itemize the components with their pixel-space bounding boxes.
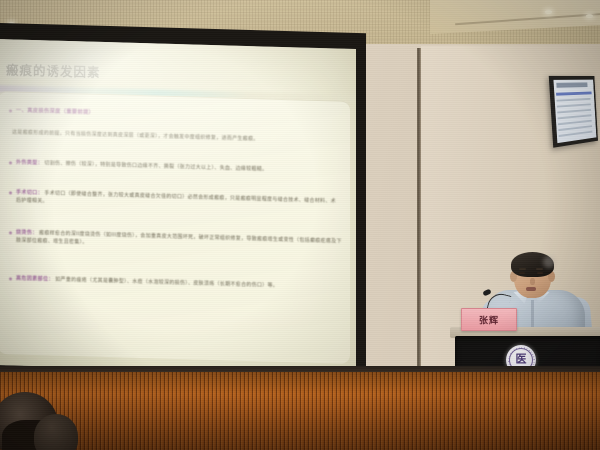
bullet-dot-icon bbox=[9, 277, 12, 280]
slide-bullet: 手术切口： 手术切口（即使缝合整齐，张力较大或真皮缝合欠佳的切口）必然会形成瘢痕… bbox=[16, 189, 338, 214]
slide-bullet: 这是瘢痕形成的前提。只有当损伤深度达到真皮深层（或更深），才会触发中度组织修复，… bbox=[12, 128, 342, 145]
slide-bullet-label: 外伤类型： bbox=[16, 160, 43, 167]
wood-slat-wall bbox=[0, 372, 600, 450]
speaker-mouth bbox=[526, 287, 536, 291]
bullet-dot-icon bbox=[9, 109, 12, 112]
slide-bullet-label: 手术切口： bbox=[16, 190, 43, 197]
slide-title: 瘢痕的诱发因素 bbox=[6, 59, 101, 81]
monitor-text-line bbox=[557, 103, 591, 107]
speaker-nameplate-text: 张辉 bbox=[479, 313, 499, 326]
slide-bullet-text: 手术切口（即使缝合整齐，张力较大或真皮缝合欠佳的切口）必然会形成瘢痕，只是瘢痕明… bbox=[16, 190, 336, 204]
bullet-dot-icon bbox=[9, 191, 12, 194]
monitor-text-line bbox=[556, 98, 590, 102]
bullet-dot-icon bbox=[9, 161, 12, 164]
monitor-text-line bbox=[558, 114, 592, 119]
wall-monitor-screen bbox=[553, 80, 596, 143]
speaker-nose bbox=[530, 278, 535, 285]
monitor-text-line bbox=[558, 120, 592, 126]
audience-head bbox=[34, 414, 78, 450]
speaker-hair-highlight bbox=[543, 256, 555, 268]
lecture-hall-photo: 瘢痕的诱发因素 一、真皮损伤深度（重要前提） 这是瘢痕形成的前提。只有当损伤深度… bbox=[0, 0, 600, 450]
slide-bullet: 高危因素部位： 如严重的痤疮（尤其是囊肿型）、水痘（水泡较深的损伤）、皮肤溃疡（… bbox=[16, 275, 346, 292]
slide-bullet-text: 这是瘢痕形成的前提。只有当损伤深度达到真皮深层（或更深），才会触发中度组织修复，… bbox=[12, 129, 259, 142]
slide-bullet-text: 切割伤、擦伤（较深），特别是导致伤口边缘不齐、撕裂（张力过大以上）、失血、边缘较… bbox=[44, 160, 267, 172]
speaker-eye-left bbox=[519, 272, 525, 274]
speaker-eye-right bbox=[537, 272, 543, 274]
monitor-accent-bar bbox=[556, 92, 592, 96]
speaker-nameplate: 张辉 bbox=[461, 308, 517, 331]
slide-bullet-label: 烧烫伤： bbox=[16, 230, 38, 237]
slide-bullet-label: 一、真皮损伤深度（重要前提） bbox=[16, 108, 94, 116]
wall-vertical-edge bbox=[417, 48, 421, 390]
monitor-text-line bbox=[559, 131, 593, 138]
slide-bullet-label: 高危因素部位： bbox=[16, 276, 54, 283]
slide-bullet-text: 如严重的痤疮（尤其是囊肿型）、水痘（水泡较深的损伤）、皮肤溃疡（长期不愈合的伤口… bbox=[55, 277, 278, 289]
slide-content-card: 一、真皮损伤深度（重要前提） 这是瘢痕形成的前提。只有当损伤深度达到真皮深层（或… bbox=[0, 91, 350, 364]
slide-bullet: 外伤类型： 切割伤、擦伤（较深），特别是导致伤口边缘不齐、撕裂（张力过大以上）、… bbox=[16, 159, 342, 176]
wall-monitor bbox=[549, 76, 598, 148]
emblem-center-glyph: 医 bbox=[516, 355, 527, 366]
speaker-brow-left bbox=[519, 268, 526, 270]
slide-bullet-text: 瘢痕样愈合的深II度烧烫伤（如III度烧伤），会加重真皮大范围坏死，破坏正常组织… bbox=[16, 230, 342, 245]
monitor-text-line bbox=[557, 109, 591, 114]
slide-bullet: 烧烫伤： 瘢痕样愈合的深II度烧烫伤（如III度烧伤），会加重真皮大范围坏死，破… bbox=[16, 229, 346, 254]
wood-wall-shading bbox=[0, 372, 600, 450]
monitor-heading-bar bbox=[556, 82, 587, 87]
speaker-brow-right bbox=[536, 268, 543, 270]
projection-screen: 瘢痕的诱发因素 一、真皮损伤深度（重要前提） 这是瘢痕形成的前提。只有当损伤深度… bbox=[0, 39, 356, 375]
ceiling-light-icon bbox=[586, 14, 593, 18]
bullet-dot-icon bbox=[9, 231, 12, 234]
ceiling-light-icon bbox=[545, 10, 552, 14]
slide-bullet: 一、真皮损伤深度（重要前提） bbox=[16, 107, 316, 123]
